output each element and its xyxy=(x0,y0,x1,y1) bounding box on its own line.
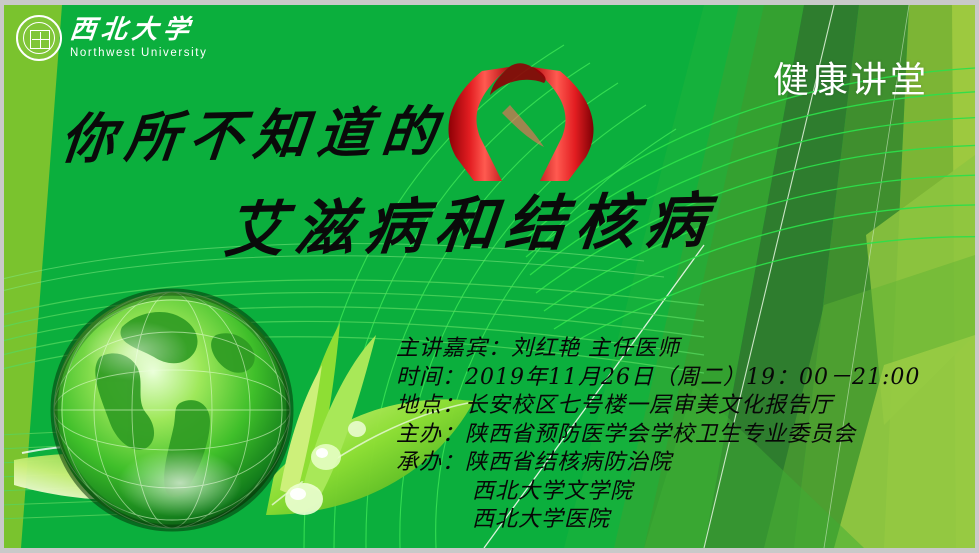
red-awareness-ribbon-icon xyxy=(448,63,593,181)
event-details: 主讲嘉宾：刘红艳 主任医师 时间：2019年11月26日（周二）19：00－21… xyxy=(396,335,936,535)
university-seal-icon xyxy=(16,15,62,61)
water-droplet-icon xyxy=(285,421,366,515)
detail-host-2: 西北大学文学院 xyxy=(396,478,936,507)
university-name-cn: 西北大学 xyxy=(69,17,209,43)
detail-host-3: 西北大学医院 xyxy=(396,506,936,535)
university-name-en: Northwest University xyxy=(70,48,207,60)
detail-organizer: 主办：陕西省预防医学会学校卫生专业委员会 xyxy=(396,421,936,450)
detail-time: 时间：2019年11月26日（周二）19：00－21:00 xyxy=(396,364,936,393)
brand-lockup: 西北大学 Northwest University xyxy=(16,15,207,61)
series-label: 健康讲堂 xyxy=(773,51,929,103)
detail-host-1: 承办：陕西省结核病防治院 xyxy=(396,449,936,478)
detail-speaker: 主讲嘉宾：刘红艳 主任医师 xyxy=(396,335,936,364)
detail-location: 地点：长安校区七号楼一层审美文化报告厅 xyxy=(396,392,936,421)
headline-line-2: 艾滋病和结核病 xyxy=(221,172,721,269)
headline-line-1: 你所不知道的 xyxy=(58,87,451,174)
poster-root: 西北大学 Northwest University 健康讲堂 你所不知道的 艾滋… xyxy=(0,0,979,553)
poster-canvas: 西北大学 Northwest University 健康讲堂 你所不知道的 艾滋… xyxy=(4,5,975,548)
